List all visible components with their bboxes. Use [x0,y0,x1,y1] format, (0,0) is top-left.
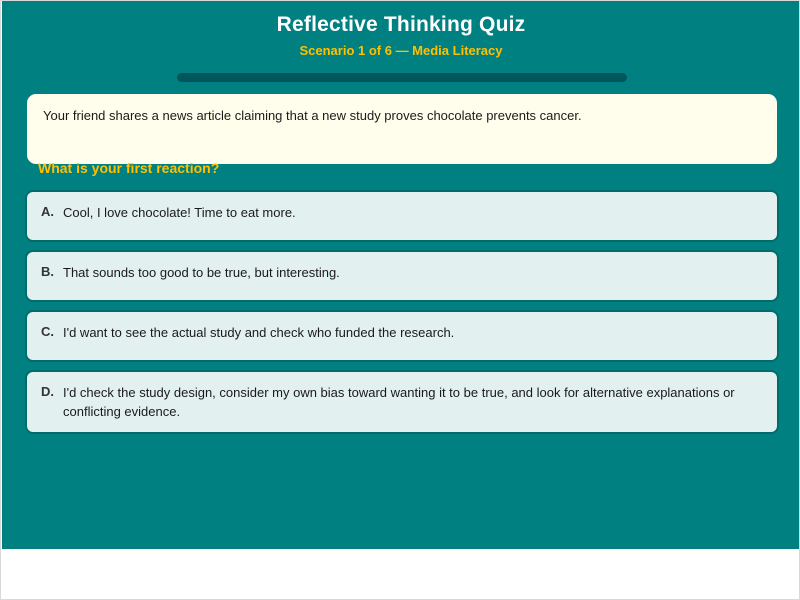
option-text: I'd want to see the actual study and che… [63,323,763,342]
question-prompt: What is your first reaction? [38,159,219,177]
option-letter: C. [41,323,63,341]
options-list: A. Cool, I love chocolate! Time to eat m… [25,190,779,442]
progress-bar-track [177,73,627,82]
option-b[interactable]: B. That sounds too good to be true, but … [25,250,779,302]
option-c[interactable]: C. I'd want to see the actual study and … [25,310,779,362]
option-d[interactable]: D. I'd check the study design, consider … [25,370,779,434]
quiz-app-window: Reflective Thinking Quiz Scenario 1 of 6… [0,0,800,600]
option-letter: B. [41,263,63,281]
option-a[interactable]: A. Cool, I love chocolate! Time to eat m… [25,190,779,242]
quiz-header: Reflective Thinking Quiz Scenario 1 of 6… [2,1,800,59]
option-letter: A. [41,203,63,221]
scenario-text: Your friend shares a news article claimi… [43,107,761,125]
scenario-subtitle: Scenario 1 of 6 — Media Literacy [2,38,800,59]
quiz-panel: Reflective Thinking Quiz Scenario 1 of 6… [2,1,800,549]
option-text: I'd check the study design, consider my … [63,383,763,421]
option-letter: D. [41,383,63,401]
scenario-card: Your friend shares a news article claimi… [27,94,777,164]
option-text: That sounds too good to be true, but int… [63,263,763,282]
option-text: Cool, I love chocolate! Time to eat more… [63,203,763,222]
page-title: Reflective Thinking Quiz [2,1,800,38]
